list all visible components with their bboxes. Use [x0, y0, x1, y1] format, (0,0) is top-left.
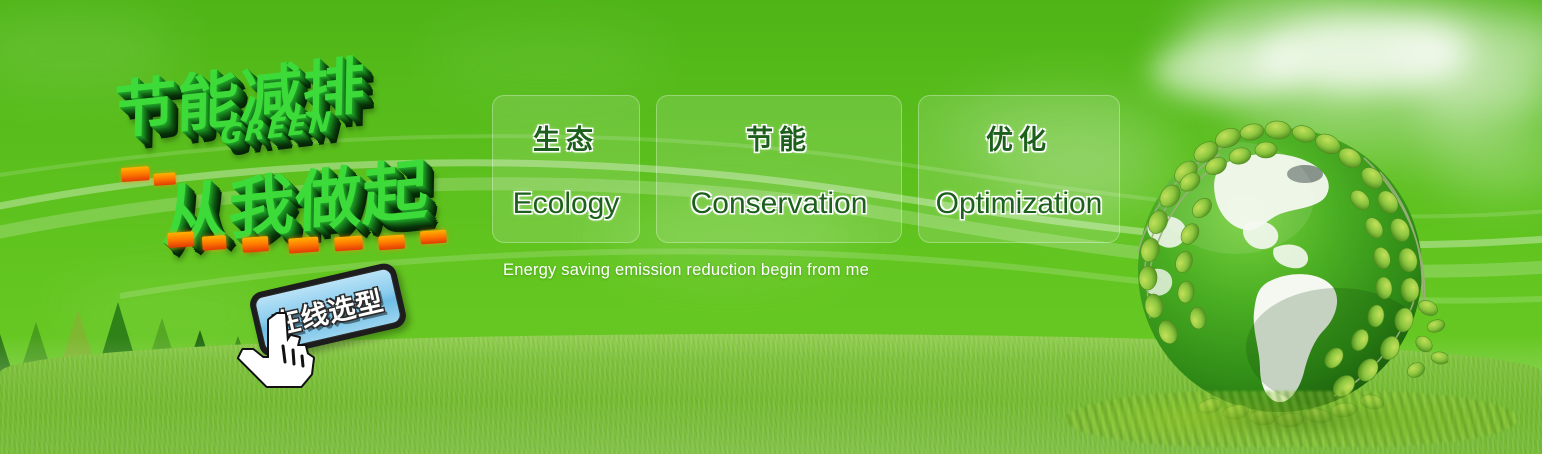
ember-glint: [121, 166, 150, 182]
feature-panel-conservation-en: Conservation: [691, 187, 868, 221]
feature-panel-optimization-en: Optimization: [936, 187, 1103, 221]
ember-glint: [153, 172, 176, 186]
globe-svg: [1128, 112, 1448, 437]
ember-glint: [202, 235, 227, 251]
eco-banner: 节能减排 GREEN 从我做起 在线选型 生态 E: [0, 0, 1542, 454]
feature-panel-ecology-cn: 生态: [533, 118, 599, 157]
ember-glint: [167, 231, 194, 248]
feature-panel-optimization[interactable]: 优化 Optimization: [918, 95, 1120, 243]
cloud-shape: [1180, 0, 1480, 100]
ember-glint: [288, 237, 319, 254]
ember-glint: [378, 235, 405, 251]
feature-panel-optimization-cn: 优化: [986, 118, 1052, 157]
feature-panel-conservation-cn: 节能: [746, 118, 812, 157]
ember-glint: [242, 236, 269, 253]
cloud-shape: [1255, 18, 1465, 90]
banner-subtitle: Energy saving emission reduction begin f…: [503, 261, 869, 280]
cloud-shape: [1150, 42, 1300, 100]
ember-glint: [334, 235, 363, 251]
feature-panel-group: 生态 Ecology 节能 Conservation 优化 Optimizati…: [492, 95, 1120, 243]
feature-panel-ecology[interactable]: 生态 Ecology: [492, 95, 640, 243]
feature-panel-conservation[interactable]: 节能 Conservation: [656, 95, 902, 243]
cloud-shape: [1395, 8, 1542, 82]
fallen-leaf-litter: [1066, 391, 1518, 447]
ivy-globe-graphic: [1128, 112, 1448, 437]
cloud-shape: [60, 278, 280, 348]
ember-glint: [420, 230, 447, 245]
feature-panel-ecology-en: Ecology: [513, 187, 620, 221]
headline-3d-artwork: 节能减排 GREEN 从我做起: [89, 24, 500, 276]
